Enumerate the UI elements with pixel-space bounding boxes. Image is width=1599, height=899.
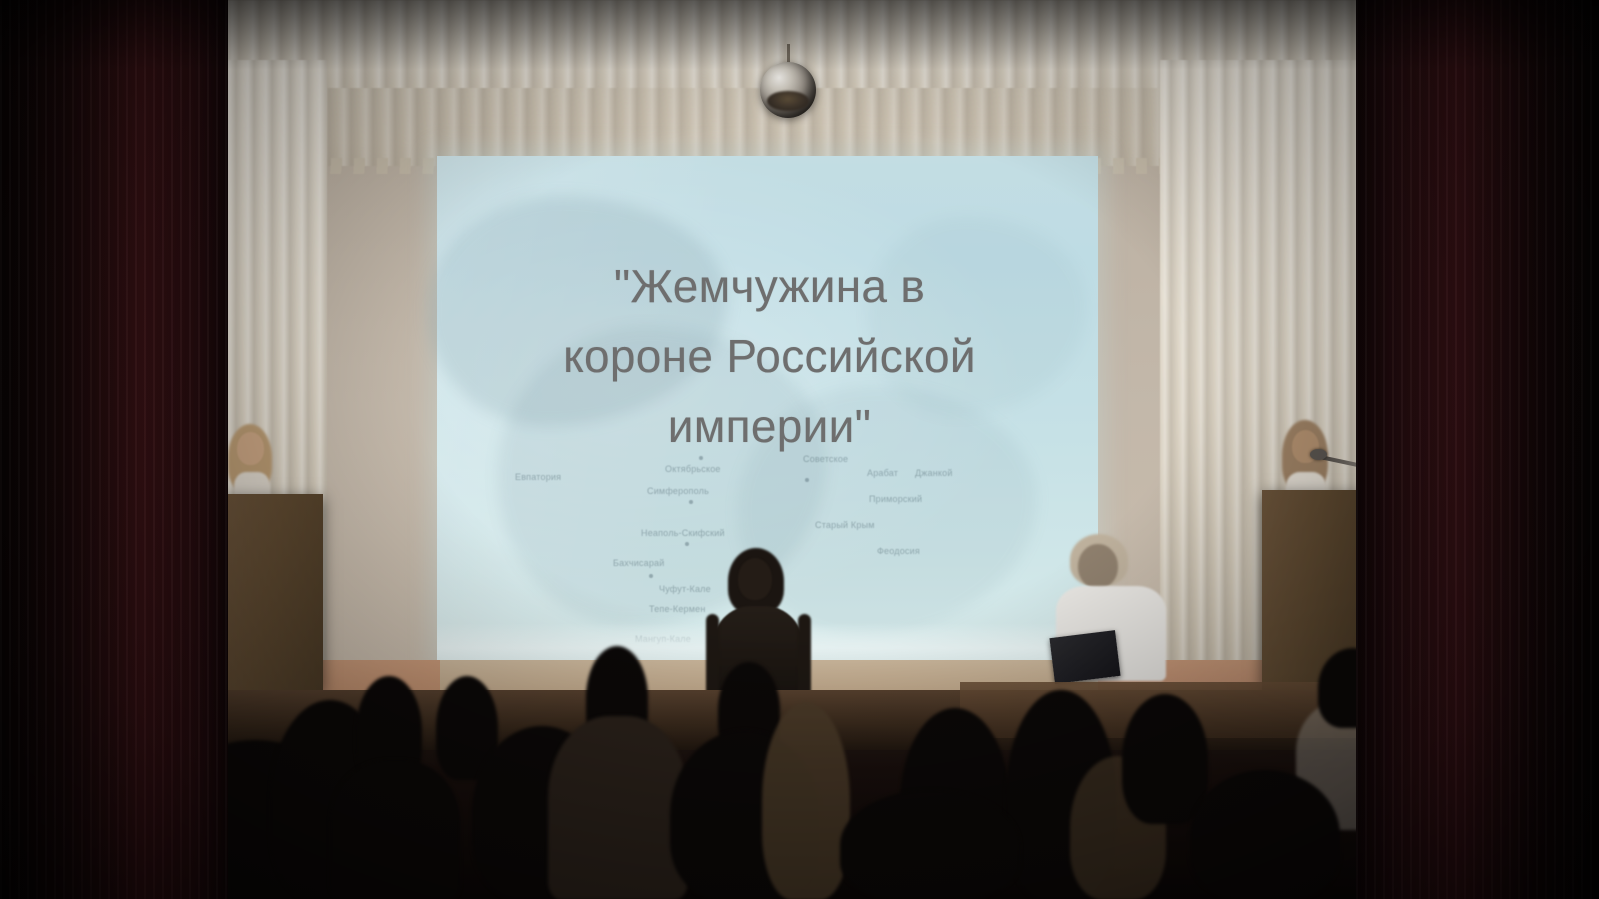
map-city-dot [689,500,693,504]
audience-member [840,790,1020,899]
left-speaker-head [237,432,264,465]
slide-title-line-1: "Жемчужина в [487,252,1052,322]
map-label: Приморский [869,494,922,504]
slide-title-line-3: империи" [487,392,1052,462]
map-label: Октябрьское [665,464,721,474]
map-label: Джанкой [915,468,953,478]
map-label: Неаполь-Скифский [641,528,725,538]
map-label: Евпатория [515,472,561,482]
map-label: Бахчисарай [613,558,664,568]
audience-member [548,716,688,899]
audience-member [330,760,460,899]
map-label: Арабат [867,468,898,478]
slide-title: "Жемчужина в короне Российской империи" [487,252,1052,462]
microphone-icon [1310,449,1327,460]
stage-curtain-left [0,0,228,899]
auditorium-scene: Евпатория Октябрьское Симферополь Неапол… [0,0,1599,899]
map-city-dot [685,542,689,546]
slide-title-line-2: короне Российской [487,322,1052,392]
map-label: Симферополь [647,486,709,496]
map-city-dot [805,478,809,482]
center-person-head [738,558,772,600]
stage-curtain-right [1356,0,1599,899]
mirror-ball [760,62,816,118]
audience-member [762,702,850,899]
map-label: Старый Крым [815,520,875,530]
audience-member [1190,770,1340,899]
map-city-dot [649,574,653,578]
audience-member [1122,694,1208,824]
map-label: Феодосия [877,546,920,556]
map-label: Чуфут-Кале [659,584,711,594]
map-label: Тепе-Кермен [649,604,706,614]
podium-left [223,494,323,690]
folder-icon [1049,630,1120,684]
folder-person-head [1078,544,1118,588]
